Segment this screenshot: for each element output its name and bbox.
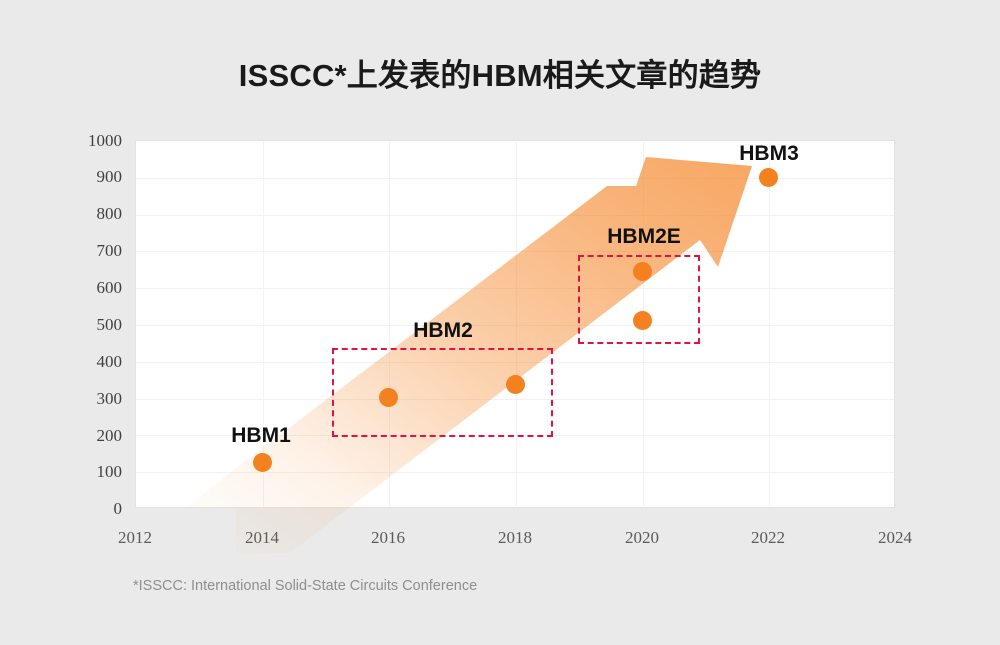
y-axis-tick: 500 bbox=[52, 315, 122, 335]
gridline-horizontal bbox=[136, 251, 894, 252]
x-axis-tick: 2012 bbox=[95, 528, 175, 548]
series-label-hbm2e: HBM2E bbox=[607, 225, 681, 249]
y-axis-tick: 1000 bbox=[52, 131, 122, 151]
y-axis-tick: 200 bbox=[52, 426, 122, 446]
gridline-horizontal bbox=[136, 472, 894, 473]
x-axis-tick: 2020 bbox=[602, 528, 682, 548]
gridline-vertical bbox=[389, 141, 390, 507]
y-axis-tick: 400 bbox=[52, 352, 122, 372]
data-point-hbm3[interactable] bbox=[759, 168, 778, 187]
gridline-vertical bbox=[516, 141, 517, 507]
data-point-hbm2-b[interactable] bbox=[506, 375, 525, 394]
x-axis-tick: 2024 bbox=[855, 528, 935, 548]
gridline-horizontal bbox=[136, 288, 894, 289]
y-axis-tick: 900 bbox=[52, 167, 122, 187]
y-axis-tick: 0 bbox=[52, 499, 122, 519]
y-axis-tick: 700 bbox=[52, 241, 122, 261]
x-axis-tick: 2014 bbox=[222, 528, 302, 548]
x-axis-tick: 2022 bbox=[728, 528, 808, 548]
gridline-horizontal bbox=[136, 178, 894, 179]
gridline-horizontal bbox=[136, 325, 894, 326]
data-point-hbm1[interactable] bbox=[253, 453, 272, 472]
data-point-hbm2-a[interactable] bbox=[379, 388, 398, 407]
gridline-horizontal bbox=[136, 215, 894, 216]
series-label-hbm2: HBM2 bbox=[413, 319, 473, 343]
data-point-hbm2e-a[interactable] bbox=[633, 262, 652, 281]
gridline-vertical bbox=[769, 141, 770, 507]
y-axis-tick: 600 bbox=[52, 278, 122, 298]
plot-area bbox=[135, 140, 895, 508]
footnote: *ISSCC: International Solid-State Circui… bbox=[133, 578, 477, 594]
chart-canvas: ISSCC*上发表的HBM相关文章的趋势 1000 900 800 700 60… bbox=[0, 0, 1000, 645]
x-axis-tick: 2018 bbox=[475, 528, 555, 548]
y-axis-tick: 800 bbox=[52, 204, 122, 224]
x-axis-tick: 2016 bbox=[348, 528, 428, 548]
page-title: ISSCC*上发表的HBM相关文章的趋势 bbox=[0, 50, 1000, 95]
series-label-hbm3: HBM3 bbox=[739, 142, 799, 166]
y-axis-tick: 100 bbox=[52, 462, 122, 482]
series-label-hbm1: HBM1 bbox=[231, 424, 291, 448]
data-point-hbm2e-b[interactable] bbox=[633, 311, 652, 330]
y-axis-tick: 300 bbox=[52, 389, 122, 409]
